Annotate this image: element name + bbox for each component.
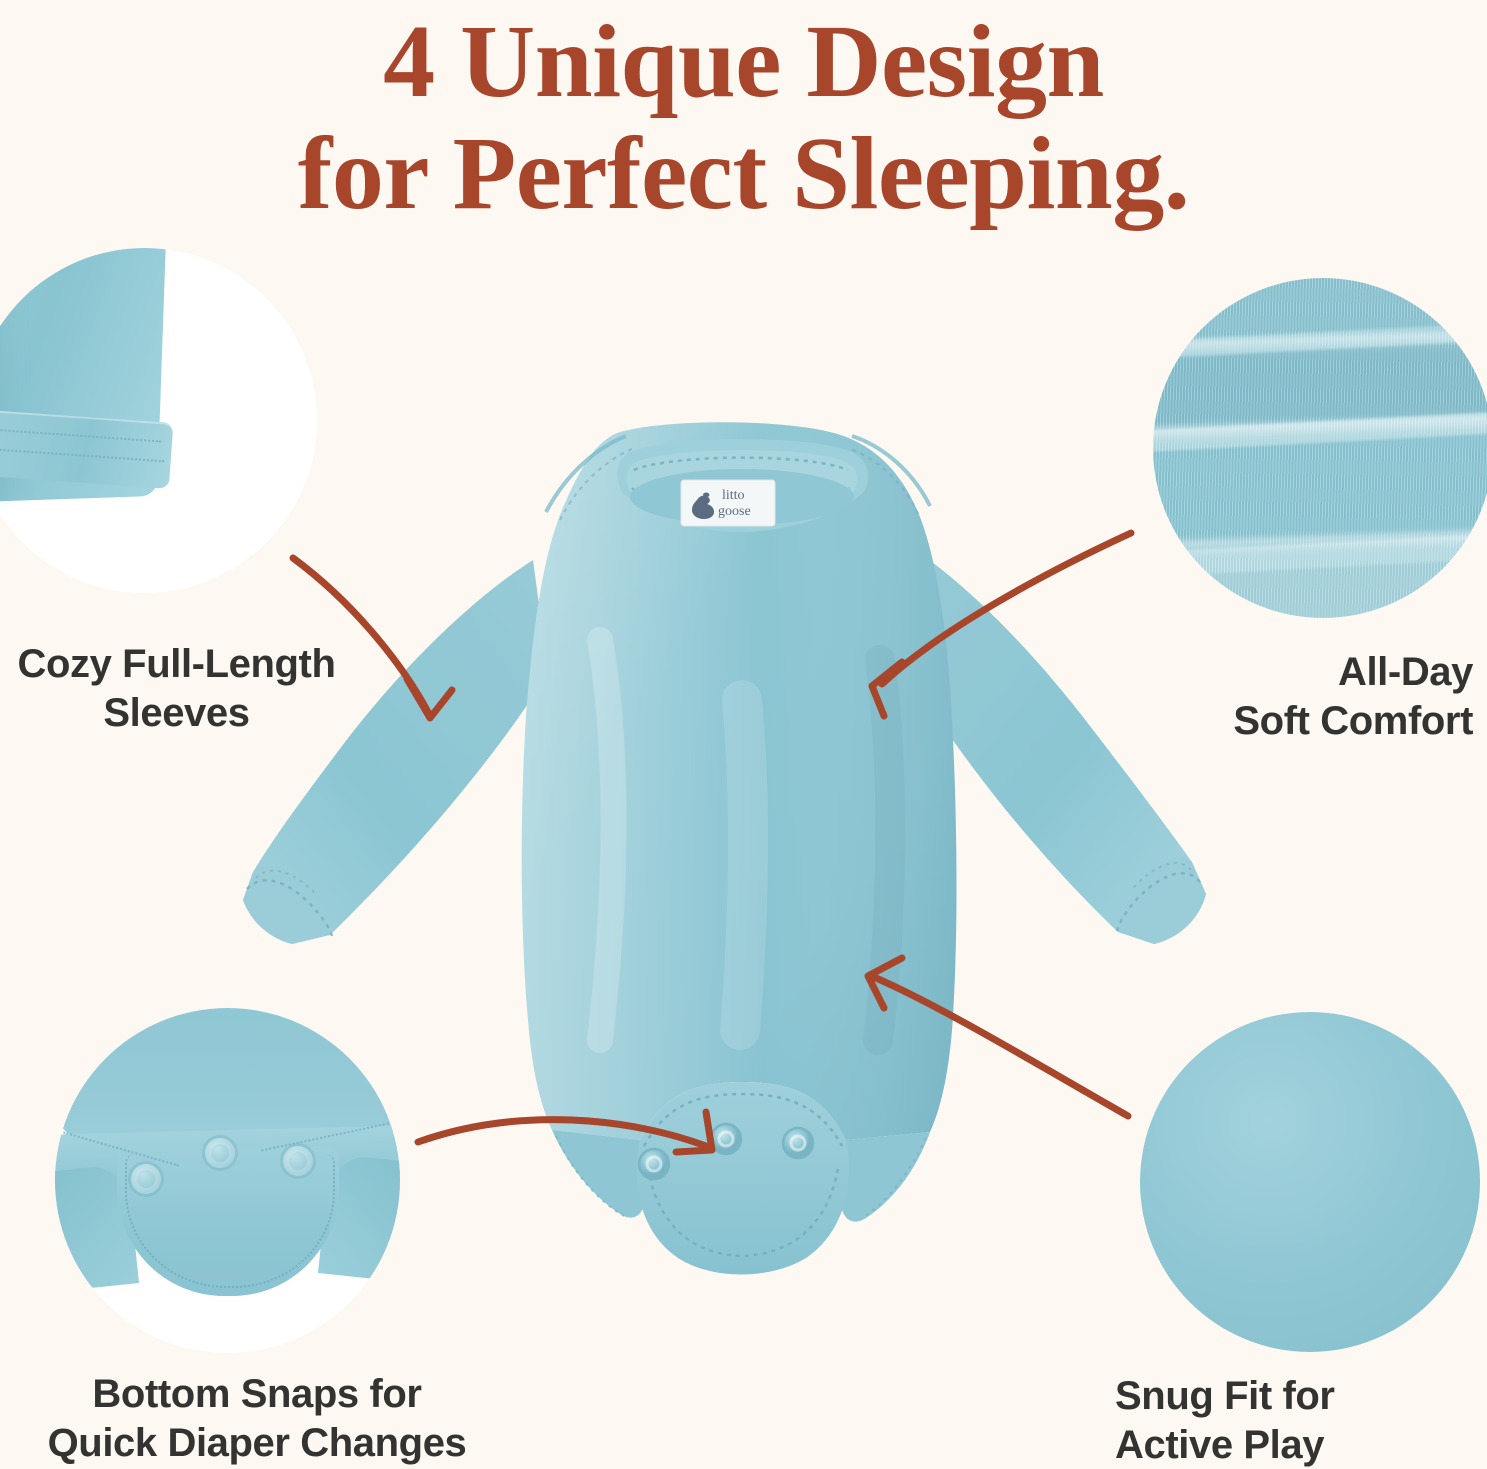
feature-label-sleeves: Cozy Full-Length Sleeves — [4, 640, 349, 738]
left-sleeve — [243, 560, 548, 944]
feature-label-fit: Snug Fit for Active Play — [1115, 1372, 1445, 1469]
svg-text:goose: goose — [718, 504, 751, 519]
brand-tag: litto goose — [681, 480, 775, 526]
feature-label-snaps: Bottom Snaps for Quick Diaper Changes — [22, 1370, 492, 1468]
product-feature-infographic: 4 Unique Design for Perfect Sleeping. — [0, 0, 1487, 1469]
svg-text:litto: litto — [722, 488, 745, 503]
feature-label-comfort: All-Day Soft Comfort — [1113, 648, 1473, 746]
